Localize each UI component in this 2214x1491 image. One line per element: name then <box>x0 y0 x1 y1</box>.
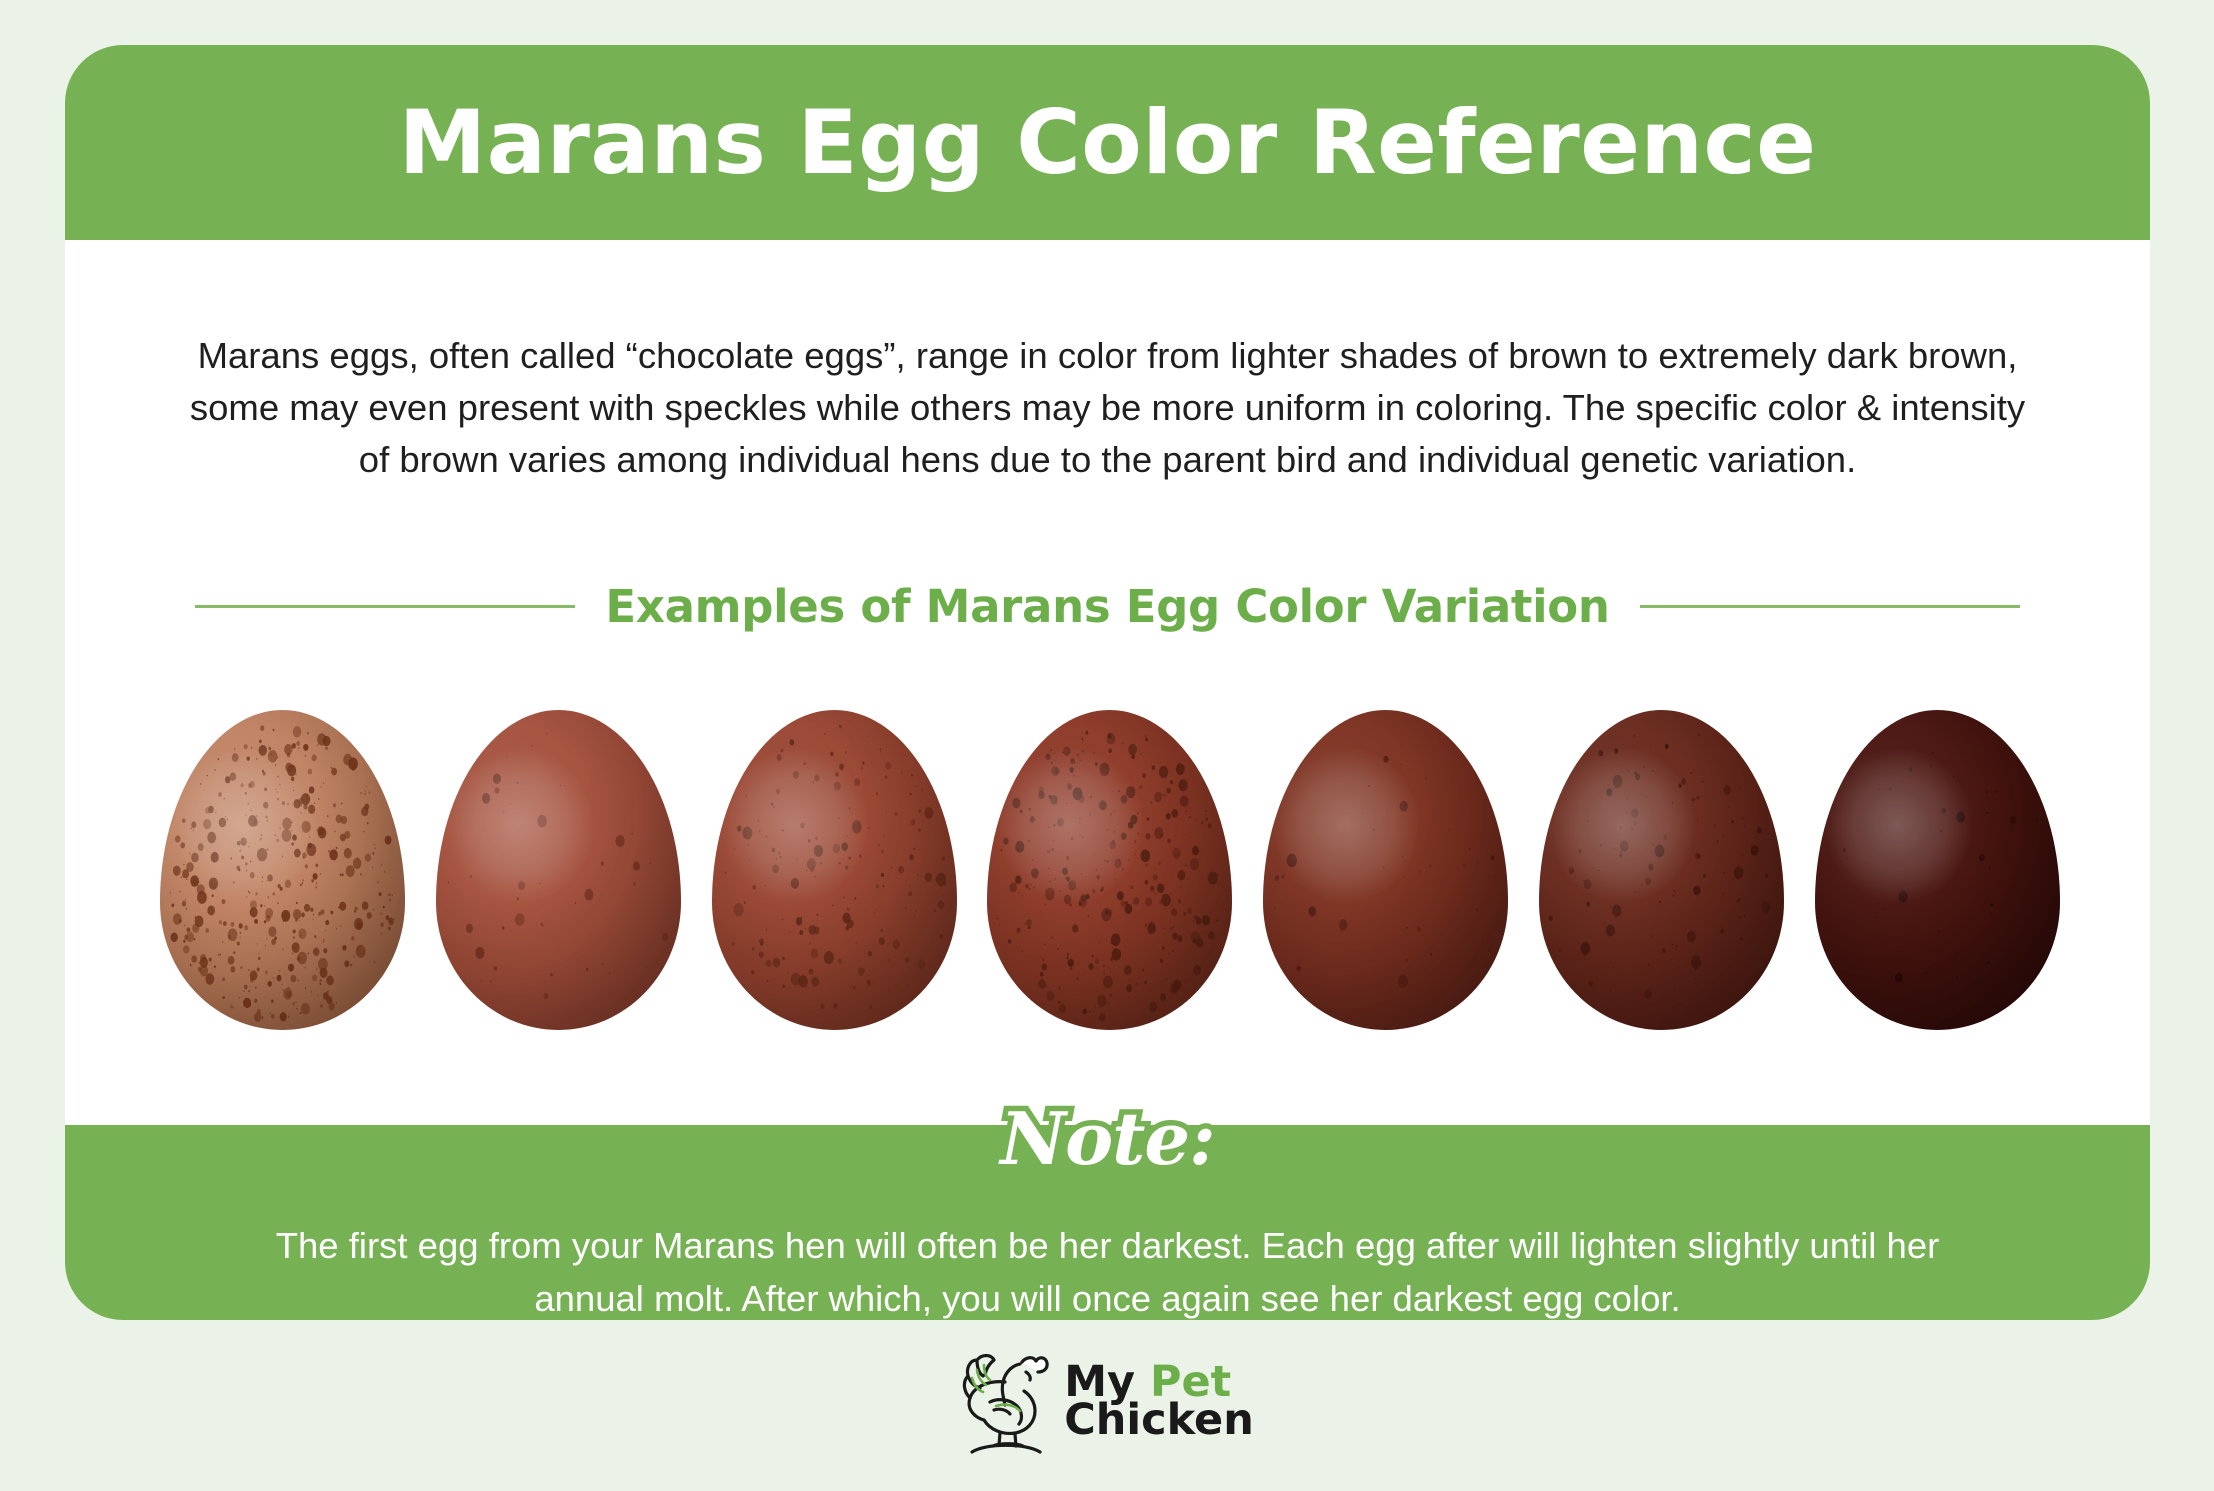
page-title: Marans Egg Color Reference <box>399 99 1817 187</box>
section-heading: Examples of Marans Egg Color Variation <box>100 580 2115 633</box>
egg-highlight <box>1539 710 1784 1030</box>
egg-highlight <box>160 710 405 1030</box>
brand-logo: My Pet Chicken <box>0 1348 2214 1456</box>
egg-highlight <box>436 710 681 1030</box>
egg-dark-uniform <box>1263 710 1508 1030</box>
section-title: Examples of Marans Egg Color Variation <box>605 580 1609 633</box>
divider-right <box>1640 605 2020 608</box>
header-band: Marans Egg Color Reference <box>65 45 2150 240</box>
infographic-card: Marans Egg Color Reference Marans eggs, … <box>65 45 2150 1320</box>
logo-line-two: Chicken <box>1064 1402 1254 1440</box>
egg-darkest-chocolate <box>1815 710 2060 1030</box>
egg-highlight <box>987 710 1232 1030</box>
chicken-icon <box>960 1348 1052 1456</box>
egg-lightest-speckled <box>160 710 405 1030</box>
egg-highlight <box>1815 710 2060 1030</box>
logo-wordmark: My Pet Chicken <box>1064 1364 1254 1440</box>
egg-highlight <box>1263 710 1508 1030</box>
egg-medium-dark-speckled <box>987 710 1232 1030</box>
egg-highlight <box>712 710 957 1030</box>
intro-paragraph: Marans eggs, often called “chocolate egg… <box>170 330 2045 487</box>
egg-color-scale <box>160 700 2060 1040</box>
note-label: Note: <box>65 1103 2150 1175</box>
note-text: The first egg from your Marans hen will … <box>225 1220 1990 1320</box>
egg-darker-brown <box>1539 710 1784 1030</box>
egg-medium-brown <box>712 710 957 1030</box>
egg-light-brown <box>436 710 681 1030</box>
divider-left <box>195 605 575 608</box>
